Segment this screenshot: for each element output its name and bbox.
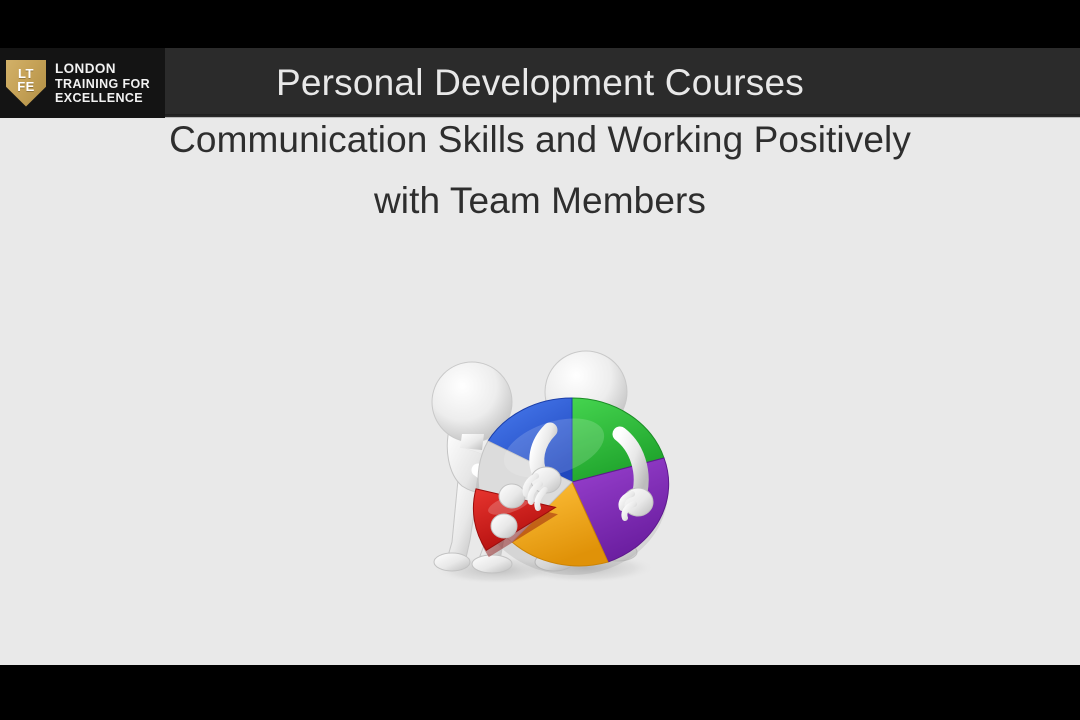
- header-bar: Personal Development Courses LT FE LONDO…: [0, 48, 1080, 118]
- slide-heading-line-2: with Team Members: [0, 171, 1080, 232]
- shield-line-2: FE: [17, 80, 35, 93]
- shield-line-1: LT: [18, 67, 34, 80]
- teamwork-pie-chart-graphic: [400, 330, 680, 600]
- slide-frame: Personal Development Courses LT FE LONDO…: [0, 0, 1080, 720]
- letterbox-top-bar: [0, 0, 1080, 48]
- logo-wordmark-line-2: TRAINING FOR: [55, 77, 150, 91]
- shield-icon: LT FE: [6, 60, 46, 107]
- slide-heading-line-1: Communication Skills and Working Positiv…: [0, 110, 1080, 171]
- logo-wordmark-line-3: EXCELLENCE: [55, 91, 150, 105]
- teamwork-pie-chart-illustration: [400, 330, 680, 600]
- slide-heading: Communication Skills and Working Positiv…: [0, 110, 1080, 231]
- shield-letters: LT FE: [6, 60, 46, 107]
- brand-logo[interactable]: LT FE LONDON TRAINING FOR EXCELLENCE: [0, 48, 165, 118]
- logo-wordmark: LONDON TRAINING FOR EXCELLENCE: [55, 61, 150, 104]
- slide-canvas: Personal Development Courses LT FE LONDO…: [0, 48, 1080, 665]
- logo-wordmark-line-1: LONDON: [55, 61, 150, 76]
- letterbox-bottom-bar: [0, 665, 1080, 720]
